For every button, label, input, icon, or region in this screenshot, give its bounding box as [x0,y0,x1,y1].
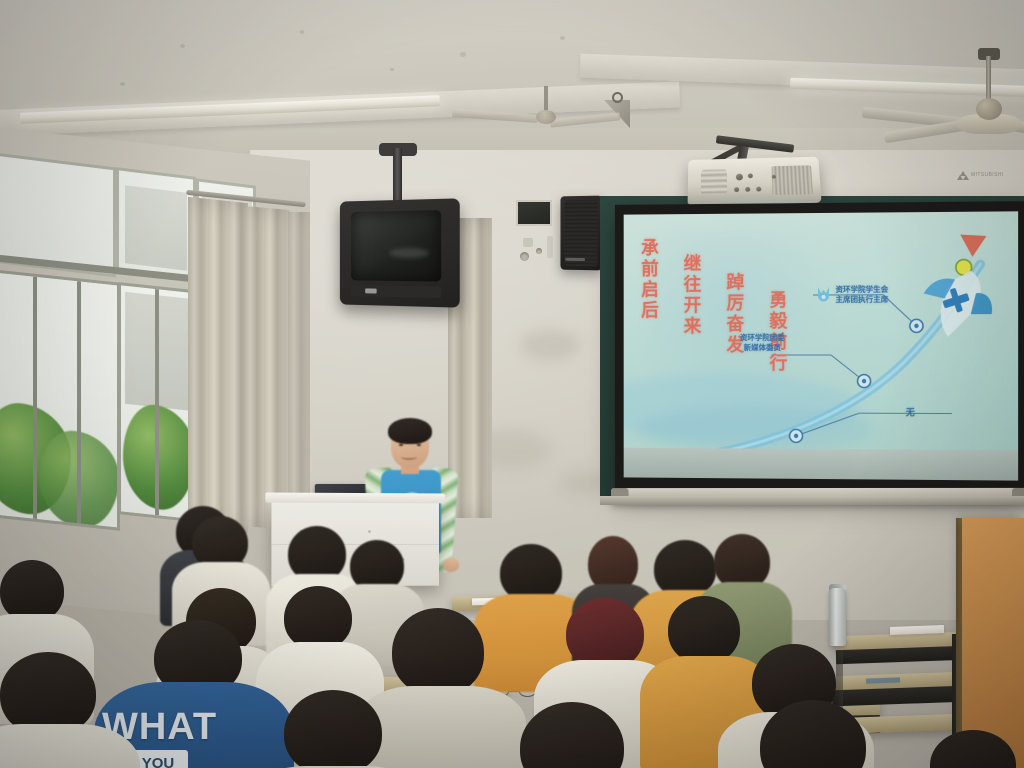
projection-screen-bottom-edge [624,448,1018,481]
presentation-slide: 承前启后 继往开来 踔厉奋发 勇毅前行 资环学院学生会 主席团执行主席 [624,211,1018,480]
ceiling-hook [612,92,623,103]
mitsubishi-mark-icon [958,171,968,180]
tv-screen-reflection [389,248,429,258]
projector-knob[interactable] [736,174,743,181]
wall-switch[interactable] [523,238,533,247]
wall-outlet[interactable] [520,252,529,261]
slide-milestone-3: 资环学院学生会 主席团执行主席 [815,285,889,306]
curtain-fold [288,212,310,512]
projector-vent [771,165,812,195]
person-head [0,560,64,622]
wall-speaker [560,196,601,271]
wall-outlet-panel[interactable] [516,200,552,226]
slide-calligraphy-1: 承前启后 [635,238,660,321]
projector-indicator [772,175,776,179]
projection-screen-surface: 承前启后 继往开来 踔厉奋发 勇毅前行 资环学院学生会 主席团执行主席 [624,211,1018,480]
speaker-brand-label [565,258,585,261]
presenter-hair [388,418,432,444]
slide-milestone-3-line2: 主席团执行主席 [836,295,889,305]
desk-shadow [832,686,966,707]
outside-building [125,185,187,271]
rocket-graphic [902,230,1006,343]
mitsubishi-logo: MITSUBISHI [958,168,1016,182]
slide-calligraphy-2: 继往开来 [678,254,704,337]
window-mullion [155,289,159,515]
rocket-icon [902,230,1006,343]
person-head [668,596,740,664]
ceiling-spot [460,52,466,57]
tv-mount-pole [393,148,402,206]
presenter-eye [399,444,403,446]
presenter-hand [443,558,459,572]
slide-milestone-2: 资环学院团委 新媒体委员 [740,333,785,353]
curtain-mid [244,206,290,530]
slide-milestone-2-line1: 资环学院团委 [740,333,785,343]
fan-rod [986,56,991,100]
ceiling-spot [180,44,185,48]
person-head [392,608,484,696]
projector-knob[interactable] [734,187,739,192]
fan-hub [536,110,556,124]
ceiling-spot [120,82,125,86]
projector-brand-label: MITSUBISHI [971,172,1004,178]
ceiling-spot [390,68,394,71]
podium-top-surface [265,492,445,503]
classroom-photo: MITSUBISHI [0,0,1024,768]
window-main [0,269,120,530]
window-mullion [77,281,81,523]
fan-rod [544,86,548,112]
podium-fastener [368,530,371,533]
projector-knob[interactable] [745,187,750,192]
slide-milestone-1-line1: 无 [906,407,915,419]
wall-smudge [520,330,580,360]
ceiling-spot [300,30,304,34]
projection-screen: 承前启后 继往开来 踔厉奋发 勇毅前行 资环学院学生会 主席团执行主席 [615,201,1024,495]
window-mullion [33,277,37,519]
water-bottle[interactable] [829,588,846,646]
window-main [118,282,192,522]
wall-outlet[interactable] [536,248,542,254]
person-head [284,690,382,768]
window-transom [116,167,196,283]
slide-milestone-3-line1: 资环学院学生会 [836,285,889,295]
slide-milestone-2-line2: 新媒体委员 [740,343,785,353]
curtain-left [188,197,248,533]
speaker-grille [564,200,598,267]
wall-conduit [547,236,553,258]
fan-hub [976,98,1002,120]
student-union-icon [815,285,832,305]
presenter-eye [417,444,421,446]
projector-knob[interactable] [748,173,753,178]
tv-screen [351,210,441,282]
presenter-smile [401,454,417,460]
projector-lens [701,169,727,195]
crt-television [340,198,460,307]
projector-knob[interactable] [756,187,761,192]
chalk-rail [600,496,1024,505]
tv-indicator [365,288,376,293]
ceiling-spot [560,36,565,40]
person-head [284,586,352,650]
